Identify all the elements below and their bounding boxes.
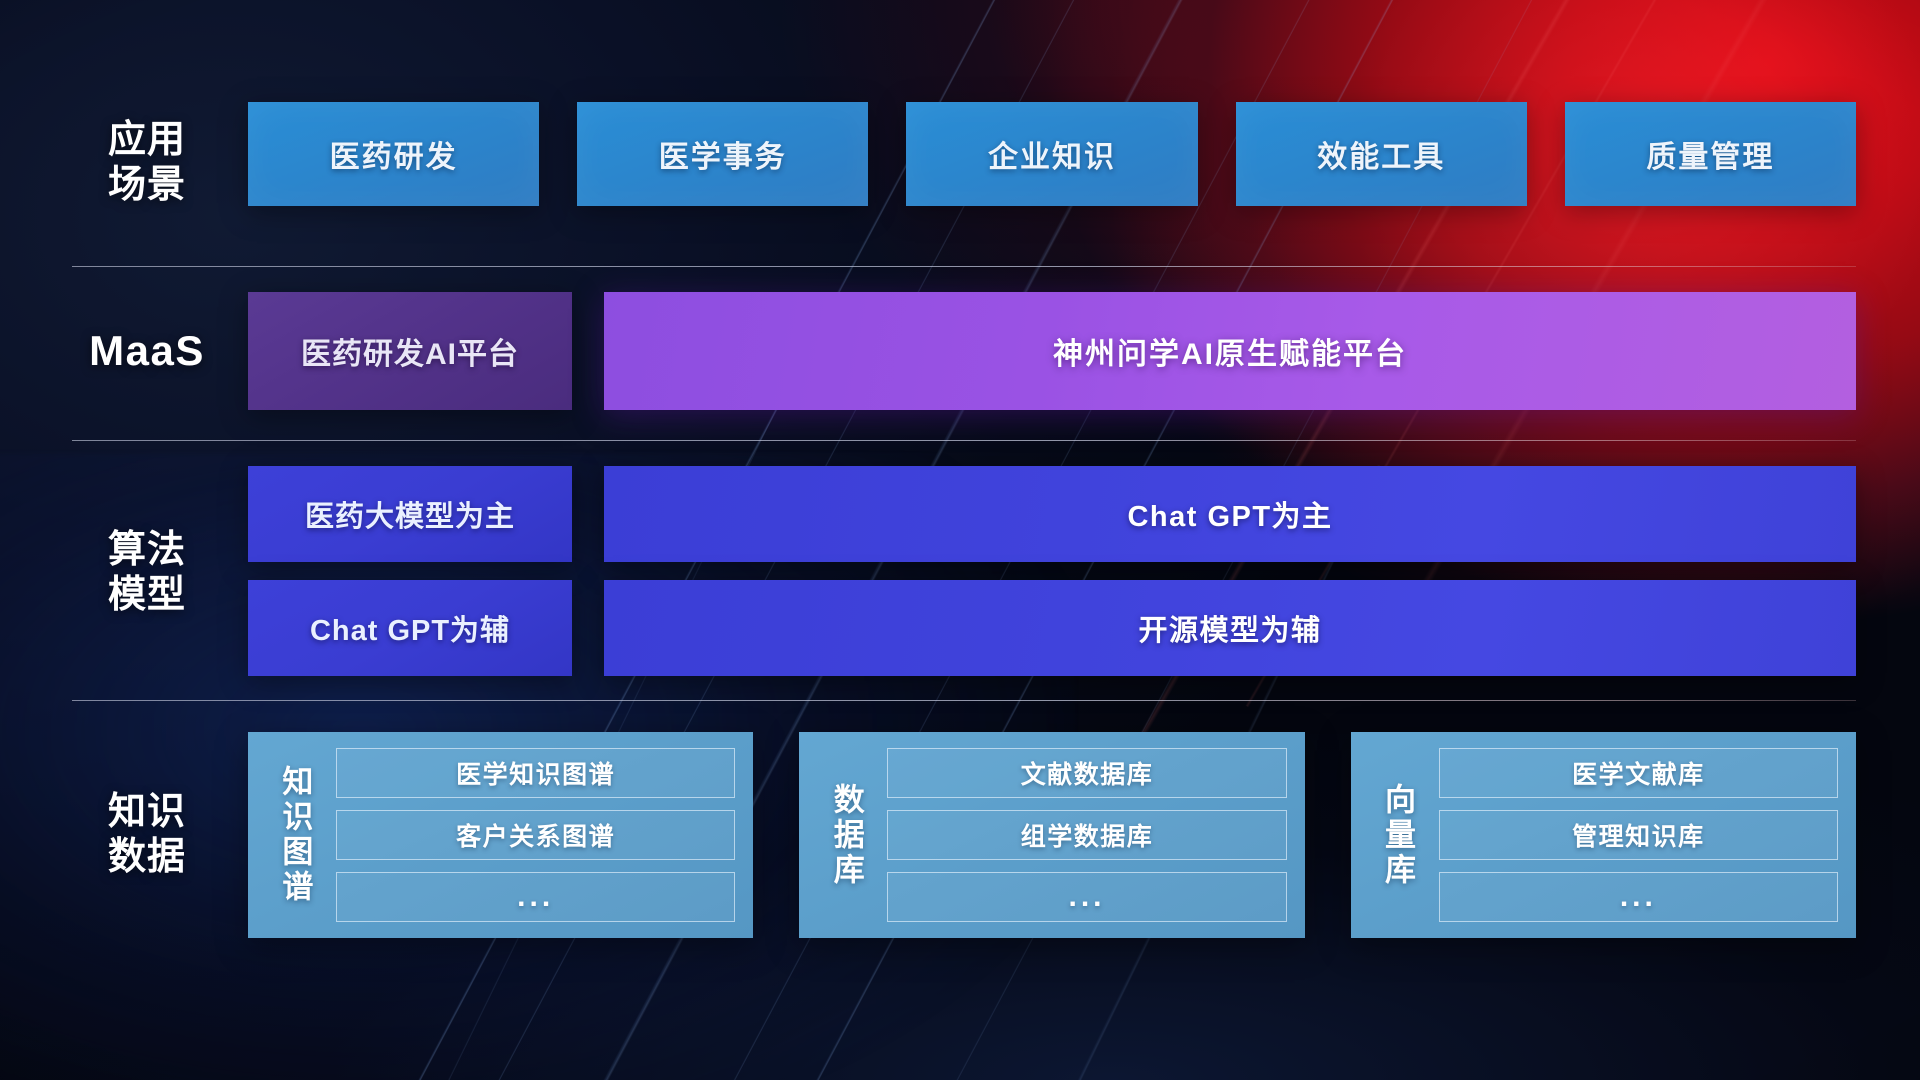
application-box-enterprise-knowledge[interactable]: 企业知识 — [906, 102, 1197, 206]
algorithm-box-chatgpt-primary[interactable]: Chat GPT为主 — [604, 466, 1856, 562]
tier-label-line: 知识 — [72, 790, 222, 835]
tier-label-line: MaaS — [72, 326, 222, 376]
application-box-list: 医药研发 医学事务 企业知识 效能工具 质量管理 — [248, 102, 1856, 206]
tier-label-application: 应用 场景 — [72, 118, 222, 208]
knowledge-card-title: 向量库 — [1369, 748, 1425, 922]
tier-label-line: 场景 — [72, 163, 222, 208]
algorithm-box-chatgpt-secondary[interactable]: Chat GPT为辅 — [248, 580, 572, 676]
knowledge-item-more[interactable]: ... — [1439, 872, 1838, 922]
maas-box-medicine-ai-platform[interactable]: 医药研发AI平台 — [248, 292, 572, 410]
algorithm-row-secondary: Chat GPT为辅 开源模型为辅 — [248, 580, 1856, 676]
algorithm-box-opensource-secondary[interactable]: 开源模型为辅 — [604, 580, 1856, 676]
architecture-diagram: 应用 场景 医药研发 医学事务 企业知识 效能工具 质量管理 MaaS 医药研发… — [0, 0, 1920, 1080]
application-box-medical-affairs[interactable]: 医学事务 — [577, 102, 868, 206]
divider-algorithm-knowledge — [72, 700, 1856, 701]
knowledge-item-customer-relation-graph[interactable]: 客户关系图谱 — [336, 810, 735, 860]
knowledge-item-management-knowledge-store[interactable]: 管理知识库 — [1439, 810, 1838, 860]
application-box-medicine-rnd[interactable]: 医药研发 — [248, 102, 539, 206]
tier-label-line: 模型 — [72, 573, 222, 618]
knowledge-item-list: 医学文献库 管理知识库 ... — [1439, 748, 1838, 922]
algorithm-row-primary: 医药大模型为主 Chat GPT为主 — [248, 466, 1856, 562]
slide-canvas: 应用 场景 医药研发 医学事务 企业知识 效能工具 质量管理 MaaS 医药研发… — [0, 0, 1920, 1080]
tier-label-line: 算法 — [72, 528, 222, 573]
knowledge-item-omics-database[interactable]: 组学数据库 — [887, 810, 1286, 860]
knowledge-item-list: 文献数据库 组学数据库 ... — [887, 748, 1286, 922]
knowledge-card-database[interactable]: 数据库 文献数据库 组学数据库 ... — [799, 732, 1304, 938]
knowledge-card-title: 数据库 — [817, 748, 873, 922]
knowledge-card-knowledge-graph[interactable]: 知识图谱 医学知识图谱 客户关系图谱 ... — [248, 732, 753, 938]
divider-maas-algorithm — [72, 440, 1856, 441]
algorithm-box-medicine-llm-primary[interactable]: 医药大模型为主 — [248, 466, 572, 562]
tier-label-algorithm: 算法 模型 — [72, 528, 222, 618]
knowledge-item-more[interactable]: ... — [887, 872, 1286, 922]
tier-label-line: 应用 — [72, 118, 222, 163]
maas-box-shenzhou-wenxue-platform[interactable]: 神州问学AI原生赋能平台 — [604, 292, 1856, 410]
divider-application-maas — [72, 266, 1856, 267]
knowledge-item-medical-knowledge-graph[interactable]: 医学知识图谱 — [336, 748, 735, 798]
knowledge-card-list: 知识图谱 医学知识图谱 客户关系图谱 ... 数据库 文献数据库 组学数据库 .… — [248, 732, 1856, 938]
knowledge-card-vector-store[interactable]: 向量库 医学文献库 管理知识库 ... — [1351, 732, 1856, 938]
tier-label-line: 数据 — [72, 835, 222, 880]
knowledge-item-list: 医学知识图谱 客户关系图谱 ... — [336, 748, 735, 922]
knowledge-item-more[interactable]: ... — [336, 872, 735, 922]
knowledge-card-title: 知识图谱 — [266, 748, 322, 922]
knowledge-item-literature-database[interactable]: 文献数据库 — [887, 748, 1286, 798]
application-box-quality-management[interactable]: 质量管理 — [1565, 102, 1856, 206]
tier-label-maas: MaaS — [72, 326, 222, 376]
tier-label-knowledge: 知识 数据 — [72, 790, 222, 880]
application-box-efficiency-tools[interactable]: 效能工具 — [1236, 102, 1527, 206]
knowledge-item-medical-literature-store[interactable]: 医学文献库 — [1439, 748, 1838, 798]
maas-box-list: 医药研发AI平台 神州问学AI原生赋能平台 — [248, 292, 1856, 410]
